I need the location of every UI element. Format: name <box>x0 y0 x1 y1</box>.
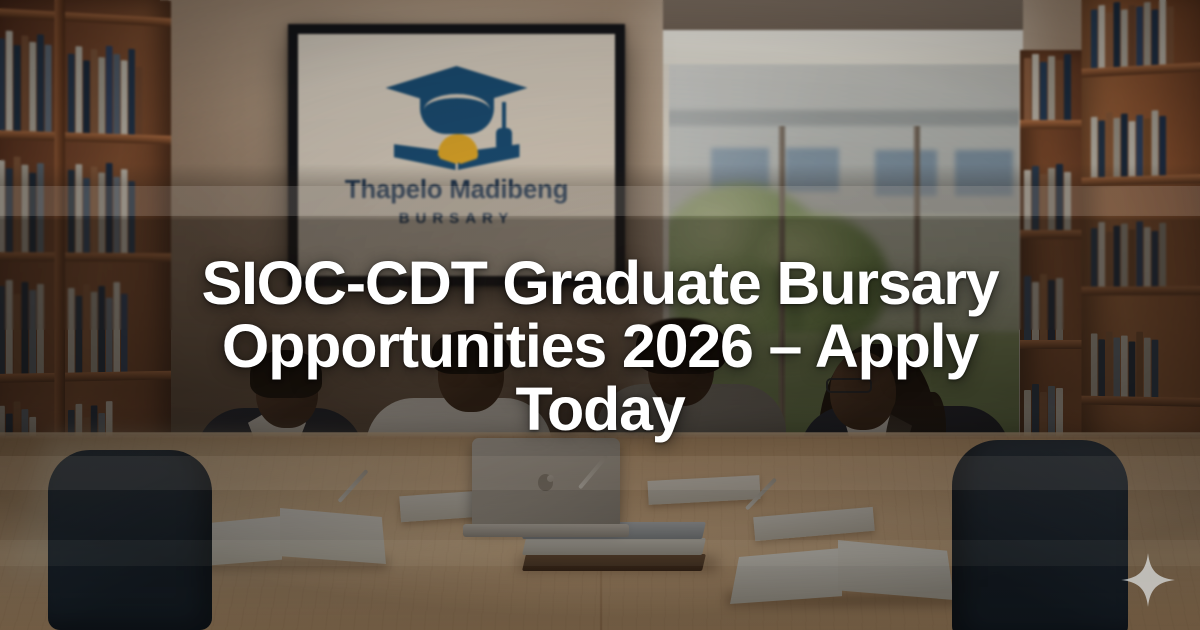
bursary-logo-mark <box>382 58 532 170</box>
book <box>76 164 83 253</box>
book <box>21 35 28 131</box>
poster-mat: Thapelo Madibeng BURSARY <box>298 34 615 276</box>
book <box>68 170 75 253</box>
book <box>1056 60 1063 120</box>
book <box>1098 339 1105 396</box>
book <box>21 282 28 373</box>
book <box>91 292 98 372</box>
book-row <box>68 42 164 136</box>
book <box>1152 231 1159 286</box>
book <box>1106 12 1113 67</box>
building-window <box>955 150 1013 196</box>
book <box>37 284 44 373</box>
book <box>1024 276 1031 340</box>
book <box>1144 2 1151 66</box>
book <box>1136 6 1143 66</box>
building-window <box>785 148 839 192</box>
book <box>1040 174 1047 230</box>
book <box>106 298 113 372</box>
apple-logo-icon <box>538 474 553 491</box>
book-row <box>0 152 53 252</box>
book <box>1056 278 1063 340</box>
book <box>1091 117 1098 178</box>
book <box>1136 221 1143 286</box>
book <box>45 45 52 132</box>
book <box>37 163 44 252</box>
book <box>1056 164 1063 230</box>
book <box>106 163 113 253</box>
book <box>1032 282 1039 340</box>
book <box>1048 168 1055 230</box>
book-row <box>1091 106 1200 177</box>
book <box>1106 232 1113 287</box>
book <box>1098 222 1105 287</box>
eyeglasses-icon <box>826 378 872 393</box>
book <box>1113 2 1120 67</box>
book <box>91 166 98 252</box>
book <box>6 280 13 374</box>
book <box>91 49 98 133</box>
book <box>6 168 13 252</box>
book <box>1106 112 1113 177</box>
book <box>1136 115 1143 176</box>
book <box>1121 336 1128 397</box>
student-hair <box>250 350 322 398</box>
book <box>1152 110 1159 175</box>
shelf-plank <box>0 8 171 27</box>
book <box>1129 229 1136 286</box>
book-page <box>730 548 842 604</box>
laptop-lid <box>472 438 620 526</box>
book-row <box>0 24 53 132</box>
book <box>83 284 90 372</box>
book <box>68 54 75 133</box>
book <box>29 42 36 132</box>
book-row <box>68 162 164 253</box>
book-row <box>68 282 164 373</box>
book <box>0 160 5 252</box>
book <box>113 177 120 253</box>
student-hair <box>636 318 726 374</box>
book <box>1091 9 1098 68</box>
book <box>14 45 21 131</box>
book <box>1113 226 1120 287</box>
book <box>1167 6 1174 64</box>
book <box>1121 113 1128 176</box>
book <box>1144 338 1151 397</box>
book <box>29 173 36 252</box>
building-window <box>875 150 937 196</box>
book <box>1091 228 1098 287</box>
book <box>6 31 13 131</box>
book <box>14 294 21 374</box>
book <box>83 178 90 253</box>
bursary-banner: Thapelo Madibeng BURSARY <box>0 0 1200 630</box>
book <box>1129 341 1136 396</box>
window-valance <box>663 0 1023 30</box>
tassel-icon <box>496 128 512 152</box>
shelf-plank <box>0 252 171 262</box>
book <box>37 34 44 131</box>
book <box>1024 170 1031 230</box>
book <box>121 169 128 253</box>
book <box>1129 121 1136 176</box>
book <box>21 165 28 253</box>
book <box>121 60 128 134</box>
book-row <box>0 274 53 374</box>
laptop-base <box>463 524 629 537</box>
book <box>1048 280 1055 340</box>
book <box>1098 120 1105 177</box>
book <box>29 290 36 373</box>
sunrise-icon <box>438 134 478 156</box>
framed-bursary-poster: Thapelo Madibeng BURSARY <box>288 24 625 286</box>
book <box>1040 62 1047 120</box>
book <box>14 157 21 253</box>
book <box>1159 0 1166 65</box>
book <box>128 49 135 135</box>
book <box>1144 118 1151 175</box>
stacked-book <box>522 554 706 571</box>
book-row <box>1091 218 1200 287</box>
book <box>1159 223 1166 286</box>
book <box>1152 340 1159 397</box>
book <box>0 38 5 130</box>
book <box>1040 274 1047 340</box>
poster-logo-name: Thapelo Madibeng <box>345 176 568 202</box>
book <box>1152 9 1159 65</box>
shelf-plank <box>1082 286 1200 295</box>
book <box>121 294 128 372</box>
book <box>68 288 75 373</box>
book <box>1064 54 1071 120</box>
book <box>1091 333 1098 396</box>
chair-foreground-right <box>952 440 1128 630</box>
book <box>98 173 105 253</box>
book-page <box>280 508 386 564</box>
window-header <box>663 30 1023 64</box>
book <box>1098 5 1105 68</box>
book <box>1032 54 1039 120</box>
book <box>1121 9 1128 66</box>
building-eave <box>669 110 1019 126</box>
book <box>1113 337 1120 396</box>
book <box>1064 172 1071 230</box>
book <box>113 54 120 134</box>
laptop <box>472 438 620 542</box>
book <box>1144 227 1151 286</box>
book <box>106 46 113 134</box>
book-row <box>1091 330 1200 398</box>
book <box>1113 118 1120 177</box>
book <box>136 67 143 135</box>
book <box>83 60 90 133</box>
poster-logo-subtitle: BURSARY <box>399 211 515 226</box>
book <box>1032 166 1039 230</box>
book <box>1048 56 1055 120</box>
student-hair <box>432 330 510 374</box>
book <box>98 57 105 134</box>
book <box>1106 332 1113 397</box>
book <box>113 282 120 372</box>
book <box>76 46 83 133</box>
book <box>1129 5 1136 66</box>
book <box>0 286 5 374</box>
book-row <box>1091 0 1200 68</box>
book <box>128 181 135 253</box>
book <box>1159 116 1166 176</box>
book <box>1121 224 1128 287</box>
book <box>76 296 83 373</box>
book <box>98 286 105 372</box>
chair-foreground-left <box>48 450 212 630</box>
library-scene-photo: Thapelo Madibeng BURSARY <box>0 0 1200 630</box>
book <box>1136 332 1143 397</box>
book <box>1024 58 1031 120</box>
